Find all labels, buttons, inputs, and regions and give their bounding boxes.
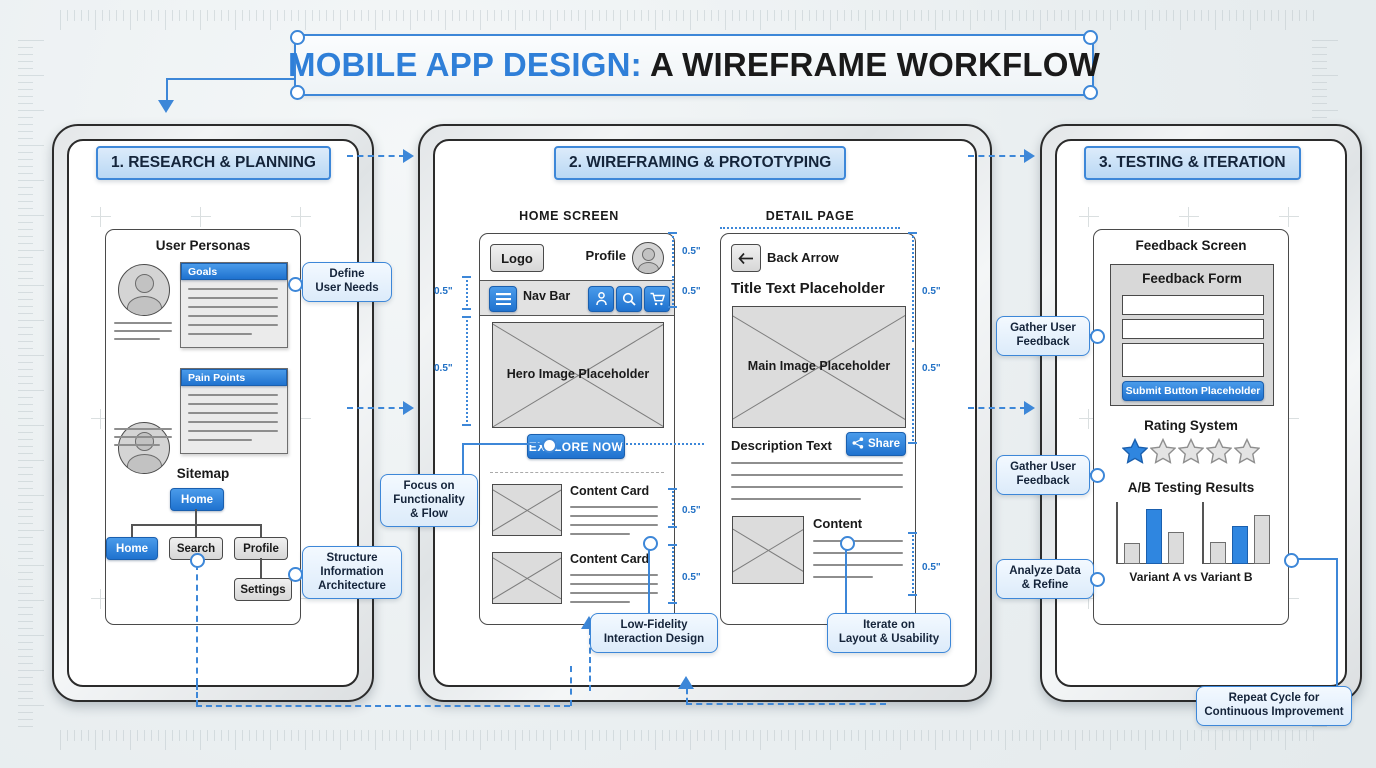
panel-header-2: 2. WIREFRAMING & PROTOTYPING bbox=[554, 146, 846, 180]
callout-anchor-dot bbox=[288, 277, 303, 292]
title-connector-arrow bbox=[158, 100, 174, 113]
nav-bar: Nav Bar bbox=[480, 280, 674, 316]
hero-image-label: Hero Image Placeholder bbox=[507, 367, 649, 383]
registration-mark bbox=[1279, 207, 1299, 227]
ab-testing-caption: Variant A vs Variant B bbox=[1094, 570, 1288, 584]
registration-mark bbox=[91, 207, 111, 227]
resize-handle-top-left[interactable] bbox=[290, 30, 305, 45]
content-card-title: Content Card bbox=[570, 484, 649, 498]
resize-handle-bottom-right[interactable] bbox=[1083, 85, 1098, 100]
main-image-placeholder: Main Image Placeholder bbox=[732, 306, 906, 428]
submit-button[interactable]: Submit Button Placeholder bbox=[1122, 381, 1264, 401]
title-banner: MOBILE APP DESIGN: A WIREFRAME WORKFLOW bbox=[294, 34, 1094, 96]
avatar bbox=[118, 264, 170, 316]
dimension-label: 0.5" bbox=[922, 562, 941, 573]
rating-system-title: Rating System bbox=[1094, 418, 1288, 433]
nav-bar-label: Nav Bar bbox=[523, 289, 570, 303]
chart-bar bbox=[1210, 542, 1226, 564]
star-empty-icon[interactable] bbox=[1178, 438, 1204, 464]
title-rest: A WIREFRAME WORKFLOW bbox=[642, 46, 1100, 83]
callout-focus-functionality: Focus on Functionality & Flow bbox=[380, 474, 478, 527]
registration-mark bbox=[191, 207, 211, 227]
callout-iterate-layout: Iterate on Layout & Usability bbox=[827, 613, 951, 653]
detail-page-wireframe: Back Arrow Title Text Placeholder Main I… bbox=[720, 233, 916, 625]
dimension-label: 0.5" bbox=[922, 286, 941, 297]
user-personas-title: User Personas bbox=[106, 238, 300, 253]
callout-anchor-dot bbox=[1090, 468, 1105, 483]
content-card-image bbox=[492, 552, 562, 604]
logo-button[interactable]: Logo bbox=[490, 244, 544, 272]
chart-bar bbox=[1168, 532, 1184, 564]
callout-low-fidelity: Low-Fidelity Interaction Design bbox=[590, 613, 718, 653]
feedback-screen-title: Feedback Screen bbox=[1094, 238, 1288, 253]
star-empty-icon[interactable] bbox=[1234, 438, 1260, 464]
panel-testing-iteration: Feedback Screen Feedback Form Submit But… bbox=[1040, 124, 1362, 702]
sitemap-anchor-dot bbox=[190, 553, 205, 568]
feedback-input-2[interactable] bbox=[1122, 319, 1264, 339]
callout-anchor-dot bbox=[840, 536, 855, 551]
star-empty-icon[interactable] bbox=[1150, 438, 1176, 464]
content-card-title: Content Card bbox=[570, 552, 649, 566]
panel-research-planning: User Personas Goals bbox=[52, 124, 374, 702]
callout-define-user-needs: Define User Needs bbox=[302, 262, 392, 302]
share-label: Share bbox=[868, 438, 900, 450]
cart-icon[interactable] bbox=[644, 286, 670, 312]
title-highlight: MOBILE APP DESIGN: bbox=[288, 46, 642, 83]
pain-points-card: Pain Points bbox=[180, 368, 288, 454]
goals-label: Goals bbox=[181, 263, 287, 280]
callout-anchor-dot bbox=[643, 536, 658, 551]
callout-structure-ia: Structure Information Architecture bbox=[302, 546, 402, 599]
chart-axis-y bbox=[1116, 502, 1118, 564]
chart-bar bbox=[1124, 543, 1140, 564]
resize-handle-bottom-left[interactable] bbox=[290, 85, 305, 100]
dimension-label: 0.5" bbox=[434, 286, 453, 297]
ab-testing-title: A/B Testing Results bbox=[1094, 480, 1288, 495]
panel1-screen: User Personas Goals bbox=[67, 139, 359, 687]
sitemap-node-profile[interactable]: Profile bbox=[234, 537, 288, 560]
resize-handle-top-right[interactable] bbox=[1083, 30, 1098, 45]
description-text-label: Description Text bbox=[731, 438, 832, 453]
content-card-image bbox=[492, 484, 562, 536]
ruler-bottom bbox=[60, 730, 1316, 756]
panel-header-1: 1. RESEARCH & PLANNING bbox=[96, 146, 331, 180]
goals-card: Goals bbox=[180, 262, 288, 348]
back-arrow-label: Back Arrow bbox=[767, 250, 839, 265]
share-icon bbox=[852, 437, 864, 452]
home-screen-wireframe: Logo Profile Nav Bar bbox=[479, 233, 675, 625]
star-empty-icon[interactable] bbox=[1206, 438, 1232, 464]
hamburger-icon[interactable] bbox=[489, 286, 517, 312]
chart-bar bbox=[1254, 515, 1270, 564]
callout-gather-feedback-2: Gather User Feedback bbox=[996, 455, 1090, 495]
registration-mark bbox=[1179, 207, 1199, 227]
chart-bar bbox=[1146, 509, 1162, 564]
panel2-screen: HOME SCREEN Logo Profile Nav Bar bbox=[433, 139, 977, 687]
dimension-label: 0.5" bbox=[922, 363, 941, 374]
callout-anchor-dot bbox=[1090, 329, 1105, 344]
sitemap-node-home[interactable]: Home bbox=[106, 537, 158, 560]
star-filled-icon[interactable] bbox=[1122, 438, 1148, 464]
dimension-label: 0.5" bbox=[682, 246, 701, 257]
person-icon[interactable] bbox=[588, 286, 614, 312]
chart-bar bbox=[1232, 526, 1248, 564]
sitemap-title: Sitemap bbox=[106, 466, 300, 481]
hero-image-placeholder: Hero Image Placeholder bbox=[492, 322, 664, 428]
panel-header-3: 3. TESTING & ITERATION bbox=[1084, 146, 1301, 180]
callout-anchor-dot bbox=[288, 567, 303, 582]
rating-stars[interactable] bbox=[1122, 438, 1262, 464]
content-image-placeholder bbox=[732, 516, 804, 584]
main-image-label: Main Image Placeholder bbox=[748, 359, 890, 375]
home-screen-label: HOME SCREEN bbox=[479, 209, 659, 223]
share-button[interactable]: Share bbox=[846, 432, 906, 456]
chart-axis-y bbox=[1202, 502, 1204, 564]
callout-repeat-cycle: Repeat Cycle for Continuous Improvement bbox=[1196, 686, 1352, 726]
dimension-label: 0.5" bbox=[682, 572, 701, 583]
title-box: MOBILE APP DESIGN: A WIREFRAME WORKFLOW bbox=[294, 34, 1094, 96]
feedback-textarea[interactable] bbox=[1122, 343, 1264, 377]
panel3-screen: Feedback Screen Feedback Form Submit But… bbox=[1055, 139, 1347, 687]
feedback-form-title: Feedback Form bbox=[1111, 271, 1273, 286]
detail-title: Title Text Placeholder bbox=[731, 280, 885, 297]
sitemap-node-settings[interactable]: Settings bbox=[234, 578, 292, 601]
dimension-label: 0.5" bbox=[682, 286, 701, 297]
title-connector-h bbox=[166, 78, 296, 80]
registration-mark bbox=[1079, 207, 1099, 227]
detail-page-label: DETAIL PAGE bbox=[720, 209, 900, 223]
pain-points-label: Pain Points bbox=[181, 369, 287, 386]
feedback-form: Feedback Form Submit Button Placeholder bbox=[1110, 264, 1274, 406]
registration-mark bbox=[291, 207, 311, 227]
callout-analyze-data: Analyze Data & Refine bbox=[996, 559, 1094, 599]
sitemap-node-root[interactable]: Home bbox=[170, 488, 224, 511]
panel3-content-card: Feedback Screen Feedback Form Submit But… bbox=[1093, 229, 1289, 625]
dimension-label: 0.5" bbox=[434, 363, 453, 374]
avatar[interactable] bbox=[632, 242, 664, 274]
callout-anchor-dot bbox=[542, 438, 557, 453]
callout-anchor-dot bbox=[1284, 553, 1299, 568]
callout-anchor-dot bbox=[1090, 572, 1105, 587]
callout-gather-feedback-1: Gather User Feedback bbox=[996, 316, 1090, 356]
page-title: MOBILE APP DESIGN: A WIREFRAME WORKFLOW bbox=[288, 46, 1100, 84]
ab-testing-chart bbox=[1116, 502, 1268, 564]
dimension-label: 0.5" bbox=[682, 505, 701, 516]
search-icon[interactable] bbox=[616, 286, 642, 312]
feedback-input-1[interactable] bbox=[1122, 295, 1264, 315]
profile-label: Profile bbox=[586, 248, 626, 263]
ruler-top bbox=[60, 10, 1316, 36]
back-arrow-icon[interactable] bbox=[731, 244, 761, 272]
content-title: Content bbox=[813, 516, 862, 531]
